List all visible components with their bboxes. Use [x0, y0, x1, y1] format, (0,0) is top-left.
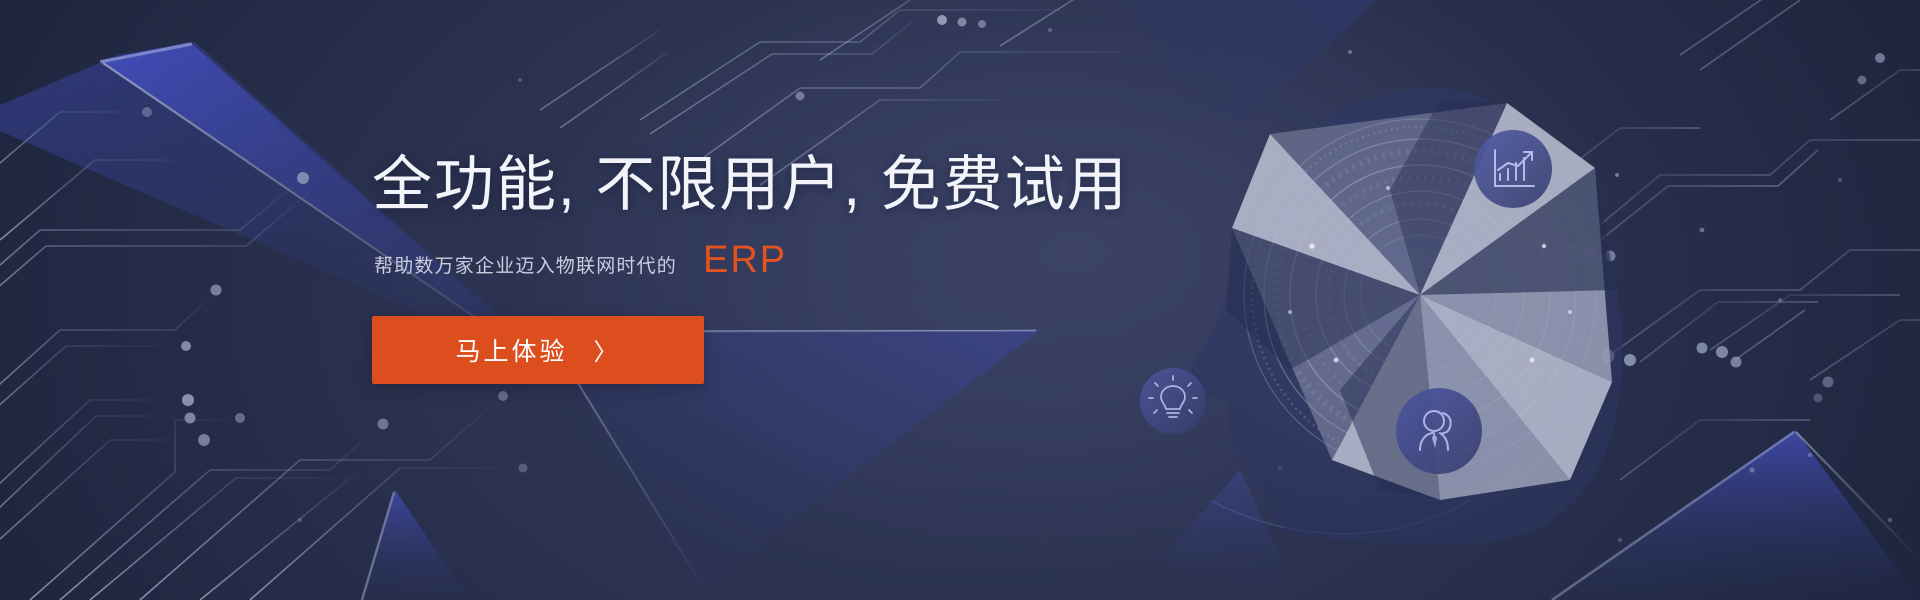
- bar-chart-badge: [1474, 130, 1552, 208]
- chevron-right-icon: 〉: [594, 332, 621, 367]
- subtitle-row: 帮助数万家企业迈入物联网时代的 ERP: [374, 239, 1132, 282]
- cta-label: 马上体验: [455, 332, 567, 368]
- lightbulb-badge: [1140, 368, 1206, 434]
- hero-banner: 全功能, 不限用户, 免费试用 帮助数万家企业迈入物联网时代的 ERP 马上体验…: [0, 0, 1920, 600]
- try-now-button[interactable]: 马上体验 〉: [372, 316, 704, 384]
- person-badge: [1396, 388, 1482, 474]
- subtitle-highlight: ERP: [703, 239, 787, 282]
- head-radial-graphic: [1140, 60, 1700, 580]
- page-title: 全功能, 不限用户, 免费试用: [372, 150, 1132, 221]
- subtitle-text: 帮助数万家企业迈入物联网时代的: [374, 251, 677, 278]
- hero-content: 全功能, 不限用户, 免费试用 帮助数万家企业迈入物联网时代的 ERP 马上体验…: [372, 150, 1132, 384]
